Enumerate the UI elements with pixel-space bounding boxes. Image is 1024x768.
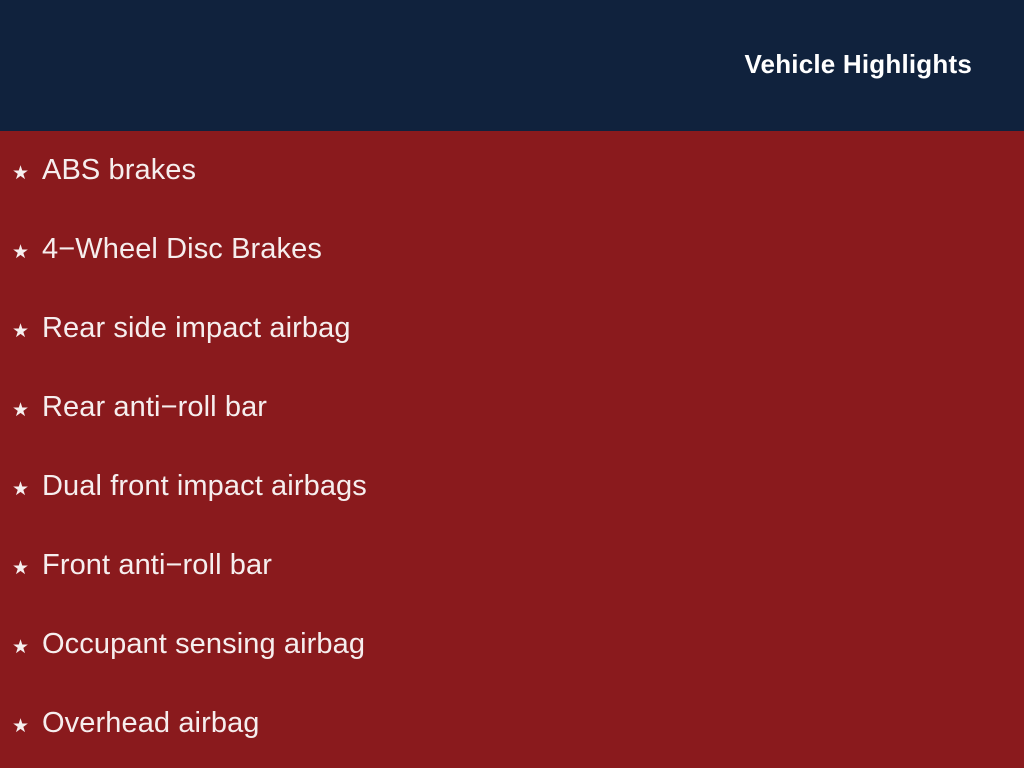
highlight-label: Occupant sensing airbag <box>42 605 365 684</box>
highlights-panel: ★ABS brakes ★4−Wheel Disc Brakes ★Rear s… <box>0 131 1024 768</box>
page-title: Vehicle Highlights <box>744 48 972 80</box>
star-icon: ★ <box>12 608 34 687</box>
star-icon: ★ <box>12 213 34 292</box>
highlight-label: 4−Wheel Disc Brakes <box>42 210 322 289</box>
star-icon: ★ <box>12 450 34 529</box>
star-icon: ★ <box>12 292 34 371</box>
highlight-label: Dual front impact airbags <box>42 447 367 526</box>
list-item: ★Rear anti−roll bar <box>0 368 1024 447</box>
highlight-label: Rear side impact airbag <box>42 289 351 368</box>
star-icon: ★ <box>12 371 34 450</box>
star-icon: ★ <box>12 687 34 766</box>
vehicle-highlights-slide: Vehicle Highlights ★ABS brakes ★4−Wheel … <box>0 0 1024 768</box>
list-item: ★ABS brakes <box>0 131 1024 210</box>
list-item: ★Occupant sensing airbag <box>0 605 1024 684</box>
list-item: ★4−Wheel Disc Brakes <box>0 210 1024 289</box>
list-item: ★Dual front impact airbags <box>0 447 1024 526</box>
highlight-label: Front anti−roll bar <box>42 526 272 605</box>
star-icon: ★ <box>12 529 34 608</box>
star-icon: ★ <box>12 134 34 213</box>
highlight-label: ABS brakes <box>42 131 196 210</box>
header-band: Vehicle Highlights <box>0 0 1024 131</box>
highlight-label: Overhead airbag <box>42 684 260 763</box>
highlights-list: ★ABS brakes ★4−Wheel Disc Brakes ★Rear s… <box>0 131 1024 763</box>
list-item: ★Overhead airbag <box>0 684 1024 763</box>
list-item: ★Front anti−roll bar <box>0 526 1024 605</box>
list-item: ★Rear side impact airbag <box>0 289 1024 368</box>
highlight-label: Rear anti−roll bar <box>42 368 267 447</box>
